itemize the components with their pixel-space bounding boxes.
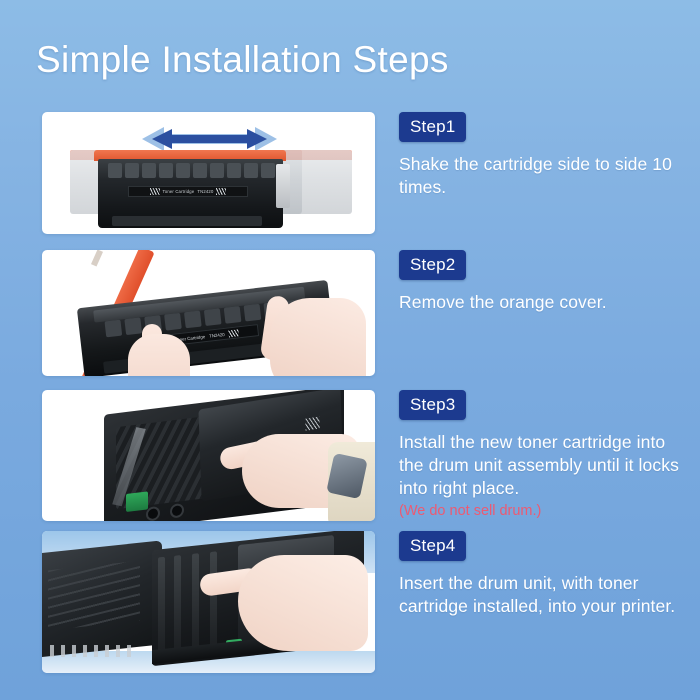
printer-vent-lines <box>48 561 140 631</box>
label-hatch-icon <box>150 188 160 195</box>
cartridge-black-body: Toner Cartridge TN2420 <box>98 159 283 228</box>
step-2-badge: Step2 <box>399 250 466 280</box>
step-row-1: Toner Cartridge TN2420 Step1 Shake the c… <box>0 112 700 234</box>
cartridge-vents <box>108 163 275 178</box>
right-hand <box>270 298 366 376</box>
step-2-text: Step2 Remove the orange cover. <box>399 250 691 314</box>
cartridge-label-brand: Toner Cartridge <box>163 189 195 194</box>
step-1-photo-panel: Toner Cartridge TN2420 <box>42 112 375 234</box>
printer-control-panel <box>50 645 136 657</box>
step-row-3: Step3 Install the new toner cartridge in… <box>0 390 700 521</box>
step-3-description: Install the new toner cartridge into the… <box>399 431 691 499</box>
scene-toner-cartridge-shaking: Toner Cartridge TN2420 <box>42 112 375 234</box>
printer-body <box>42 540 162 657</box>
left-hand <box>128 334 190 376</box>
green-slider-tab <box>126 491 148 512</box>
step-4-badge: Step4 <box>399 531 466 561</box>
step-4-text: Step4 Insert the drum unit, with toner c… <box>399 531 691 618</box>
scene-insert-drum-into-printer <box>42 531 375 673</box>
step-3-photo-panel <box>42 390 375 521</box>
step-1-badge: Step1 <box>399 112 466 142</box>
cartridge-end-cap <box>276 164 290 208</box>
toner-hatch-icon <box>305 417 319 431</box>
step-row-2: Toner Cartridge TN2420 Step2 Remove the … <box>0 250 700 376</box>
cartridge-label-model: TN2420 <box>197 189 213 194</box>
step-3-note: (We do not sell drum.) <box>399 502 691 521</box>
page-title: Simple Installation Steps <box>36 40 449 81</box>
step-2-description: Remove the orange cover. <box>399 291 691 314</box>
cartridge-foot <box>112 216 262 226</box>
label-hatch-icon-2 <box>228 329 239 337</box>
toner-cartridge: Toner Cartridge TN2420 <box>94 150 286 228</box>
step-3-badge: Step3 <box>399 390 466 420</box>
step-3-text: Step3 Install the new toner cartridge in… <box>399 390 691 521</box>
step-2-photo-panel: Toner Cartridge TN2420 <box>42 250 375 376</box>
step-4-photo-panel <box>42 531 375 673</box>
scene-removing-orange-cover: Toner Cartridge TN2420 <box>42 250 375 376</box>
step-1-description: Shake the cartridge side to side 10 time… <box>399 153 691 199</box>
step-row-4: Step4 Insert the drum unit, with toner c… <box>0 531 700 673</box>
scene-install-toner-into-drum <box>42 390 375 521</box>
strip-pull-tip <box>91 250 103 267</box>
cartridge-label-model: TN2420 <box>209 331 225 338</box>
cartridge-label: Toner Cartridge TN2420 <box>128 186 248 197</box>
label-hatch-icon-2 <box>216 188 226 195</box>
step-1-text: Step1 Shake the cartridge side to side 1… <box>399 112 691 199</box>
step-4-description: Insert the drum unit, with toner cartrid… <box>399 572 691 618</box>
hand <box>238 555 368 651</box>
